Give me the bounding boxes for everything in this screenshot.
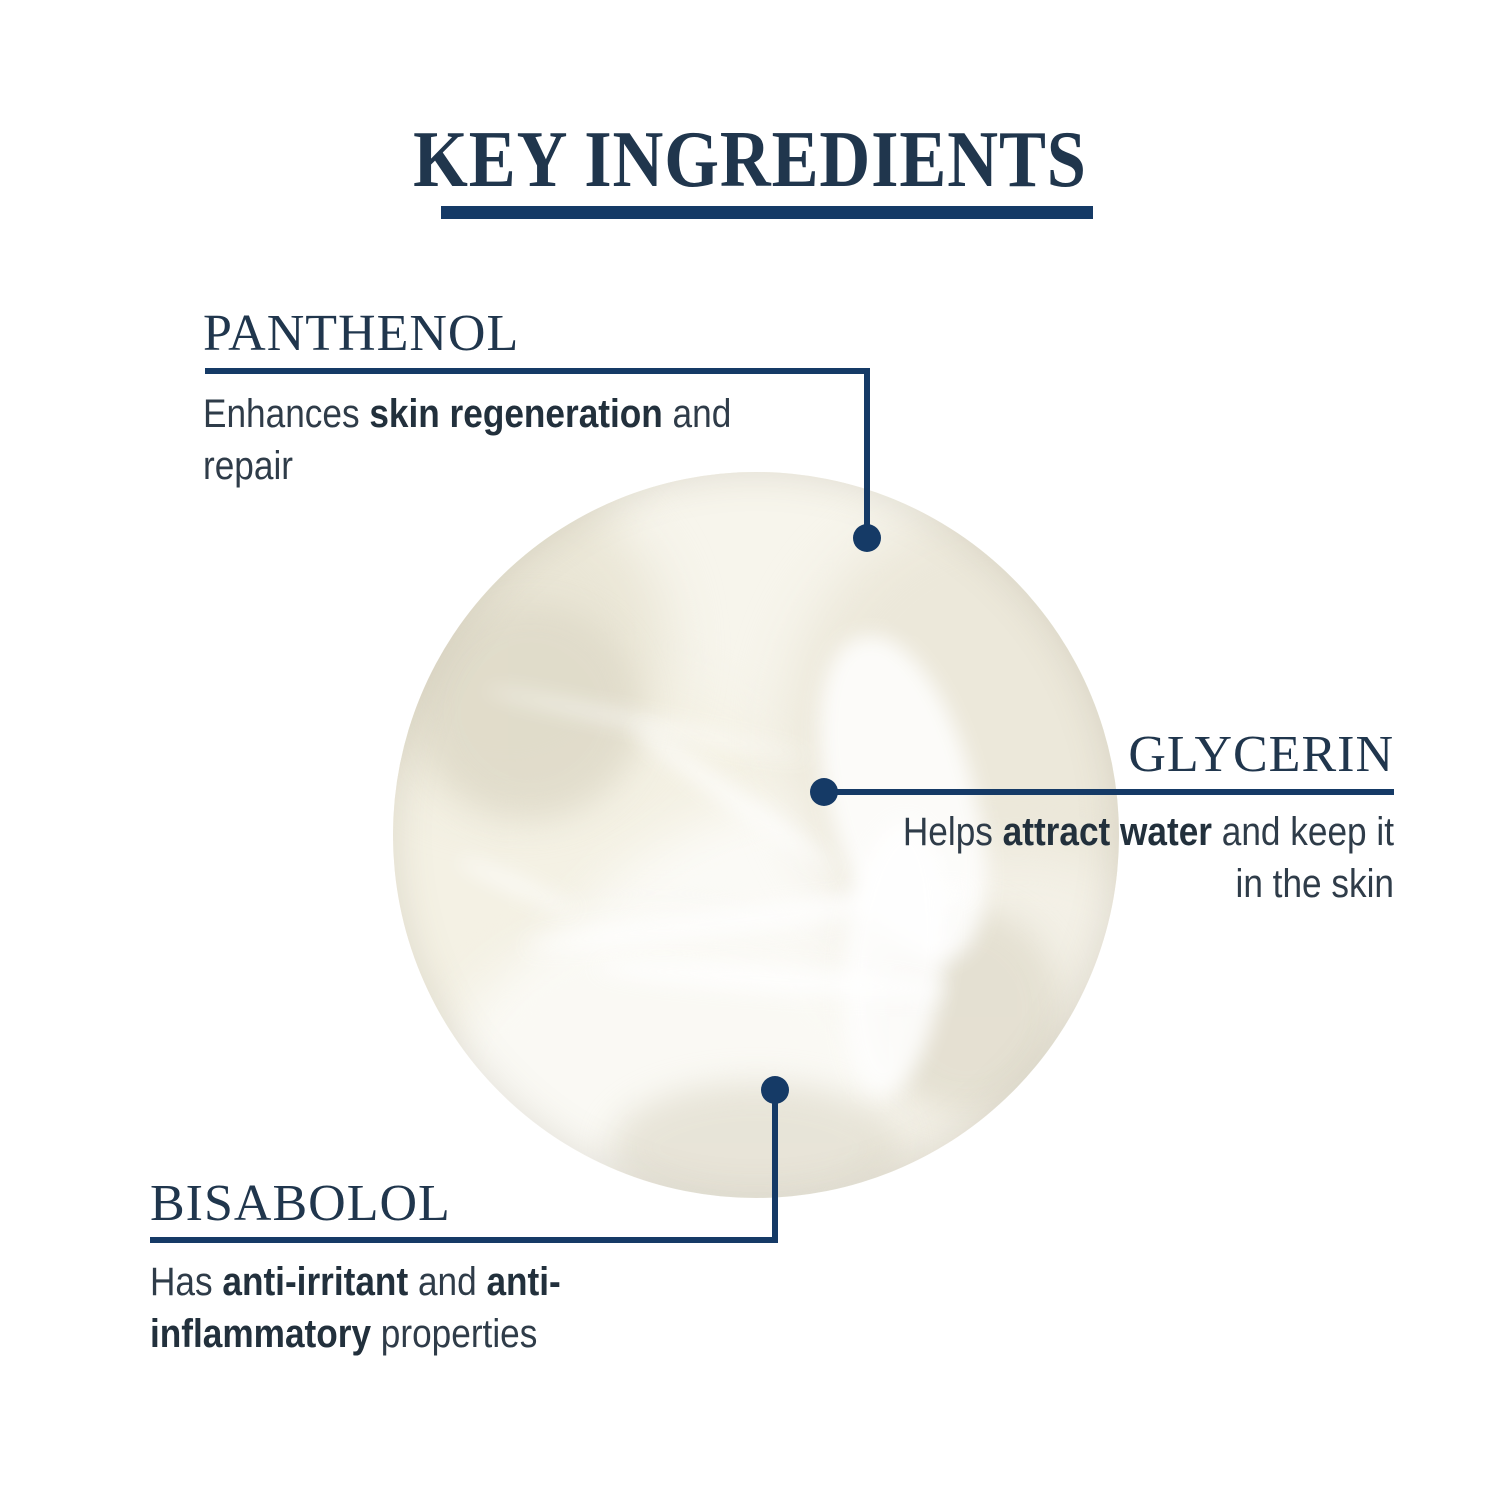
plain-text: and keep it in the skin — [1212, 810, 1394, 906]
panthenol-connector-drop — [864, 368, 870, 538]
panthenol-connector-dot — [853, 524, 881, 552]
plain-text: and — [408, 1260, 486, 1304]
emphasis-text: skin regeneration — [369, 392, 662, 436]
panthenol-connector-underline — [205, 368, 870, 374]
ingredient-description-glycerin: Helps attract water and keep it in the s… — [901, 806, 1394, 910]
glycerin-connector-line — [824, 789, 1394, 795]
plain-text: Helps — [903, 810, 1003, 854]
page-title: KEY INGREDIENTS — [90, 118, 1410, 202]
glycerin-connector-dot — [810, 778, 838, 806]
ingredient-description-bisabolol: Has anti-irritant and anti-inflammatory … — [150, 1256, 766, 1360]
plain-text: Has — [150, 1260, 222, 1304]
bisabolol-connector-underline — [150, 1237, 778, 1243]
page-title-block: KEY INGREDIENTS — [0, 118, 1500, 202]
ingredient-name-glycerin: GLYCERIN — [1128, 727, 1394, 783]
ingredient-description-panthenol: Enhances skin regeneration and repair — [203, 388, 801, 492]
plain-text: properties — [371, 1312, 537, 1356]
emphasis-text: anti-irritant — [222, 1260, 408, 1304]
bisabolol-connector-riser — [772, 1090, 778, 1243]
ingredient-name-panthenol: PANTHENOL — [203, 306, 519, 362]
key-ingredients-infographic: KEY INGREDIENTS PANTHENOL Enhances skin … — [0, 0, 1500, 1500]
title-underline-rule — [441, 206, 1093, 219]
plain-text: Enhances — [203, 392, 369, 436]
ingredient-name-bisabolol: BISABOLOL — [150, 1176, 451, 1232]
emphasis-text: attract water — [1003, 810, 1212, 854]
